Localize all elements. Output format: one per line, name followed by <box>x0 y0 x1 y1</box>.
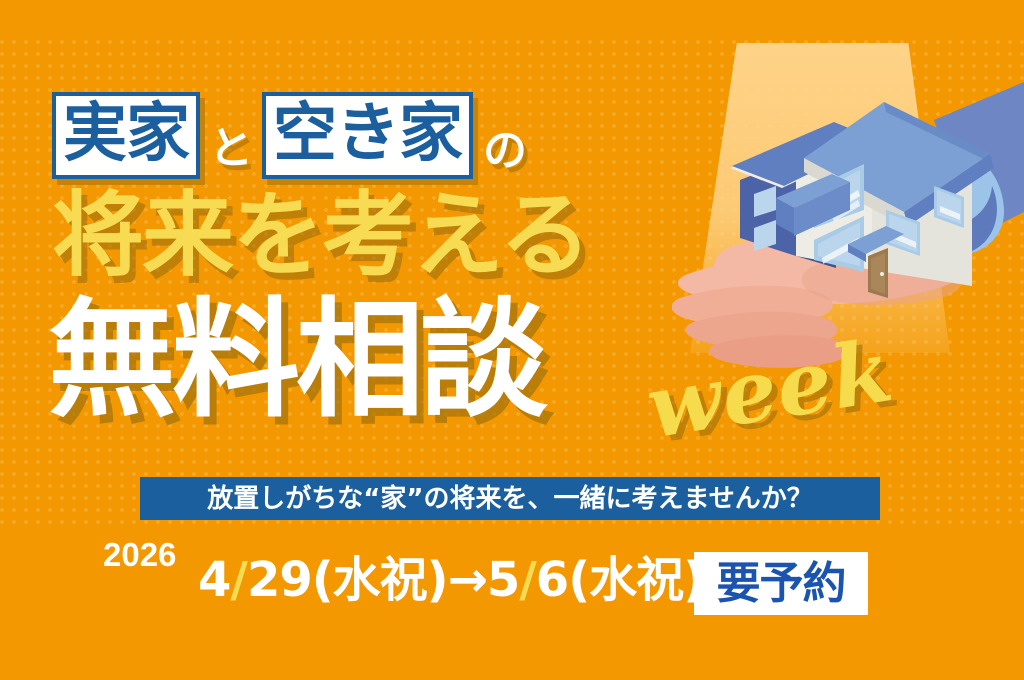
promo-poster: 実家 と 空き家 の 将来を考える 無料相談 week 放置しがちな“家”の将来… <box>0 0 1024 680</box>
end-slash: / <box>519 552 536 608</box>
headline-line-3: 無料相談 <box>48 296 544 424</box>
boxed-word-jikka: 実家 <box>52 92 200 179</box>
range-arrow: → <box>448 552 487 608</box>
schedule-row: 2026 4/29(水祝)→5/6(水祝) <box>0 533 1024 623</box>
headline-line-1: 実家 と 空き家 の <box>52 92 527 179</box>
start-weekday: (水祝) <box>312 552 448 608</box>
headline-line-2: 将来を考える <box>52 190 589 282</box>
connector-no: の <box>473 129 527 173</box>
end-day: 6 <box>536 552 568 608</box>
boxed-word-akiya: 空き家 <box>262 92 473 179</box>
end-month: 5 <box>487 552 519 608</box>
event-date-range: 4/29(水祝)→5/6(水祝) <box>198 556 704 604</box>
subtitle-bar: 放置しがちな“家”の将来を、一緒に考えませんか？ <box>140 477 880 520</box>
start-month: 4 <box>198 552 230 608</box>
start-slash: / <box>230 552 247 608</box>
connector-to: と <box>200 127 262 171</box>
subtitle-text: 放置しがちな“家”の将来を、一緒に考えませんか？ <box>207 486 812 512</box>
end-weekday: (水祝) <box>568 552 704 608</box>
event-year: 2026 <box>103 538 176 571</box>
reservation-required-badge: 要予約 <box>694 552 868 615</box>
start-day: 29 <box>247 552 312 608</box>
reservation-required-label: 要予約 <box>717 562 846 606</box>
